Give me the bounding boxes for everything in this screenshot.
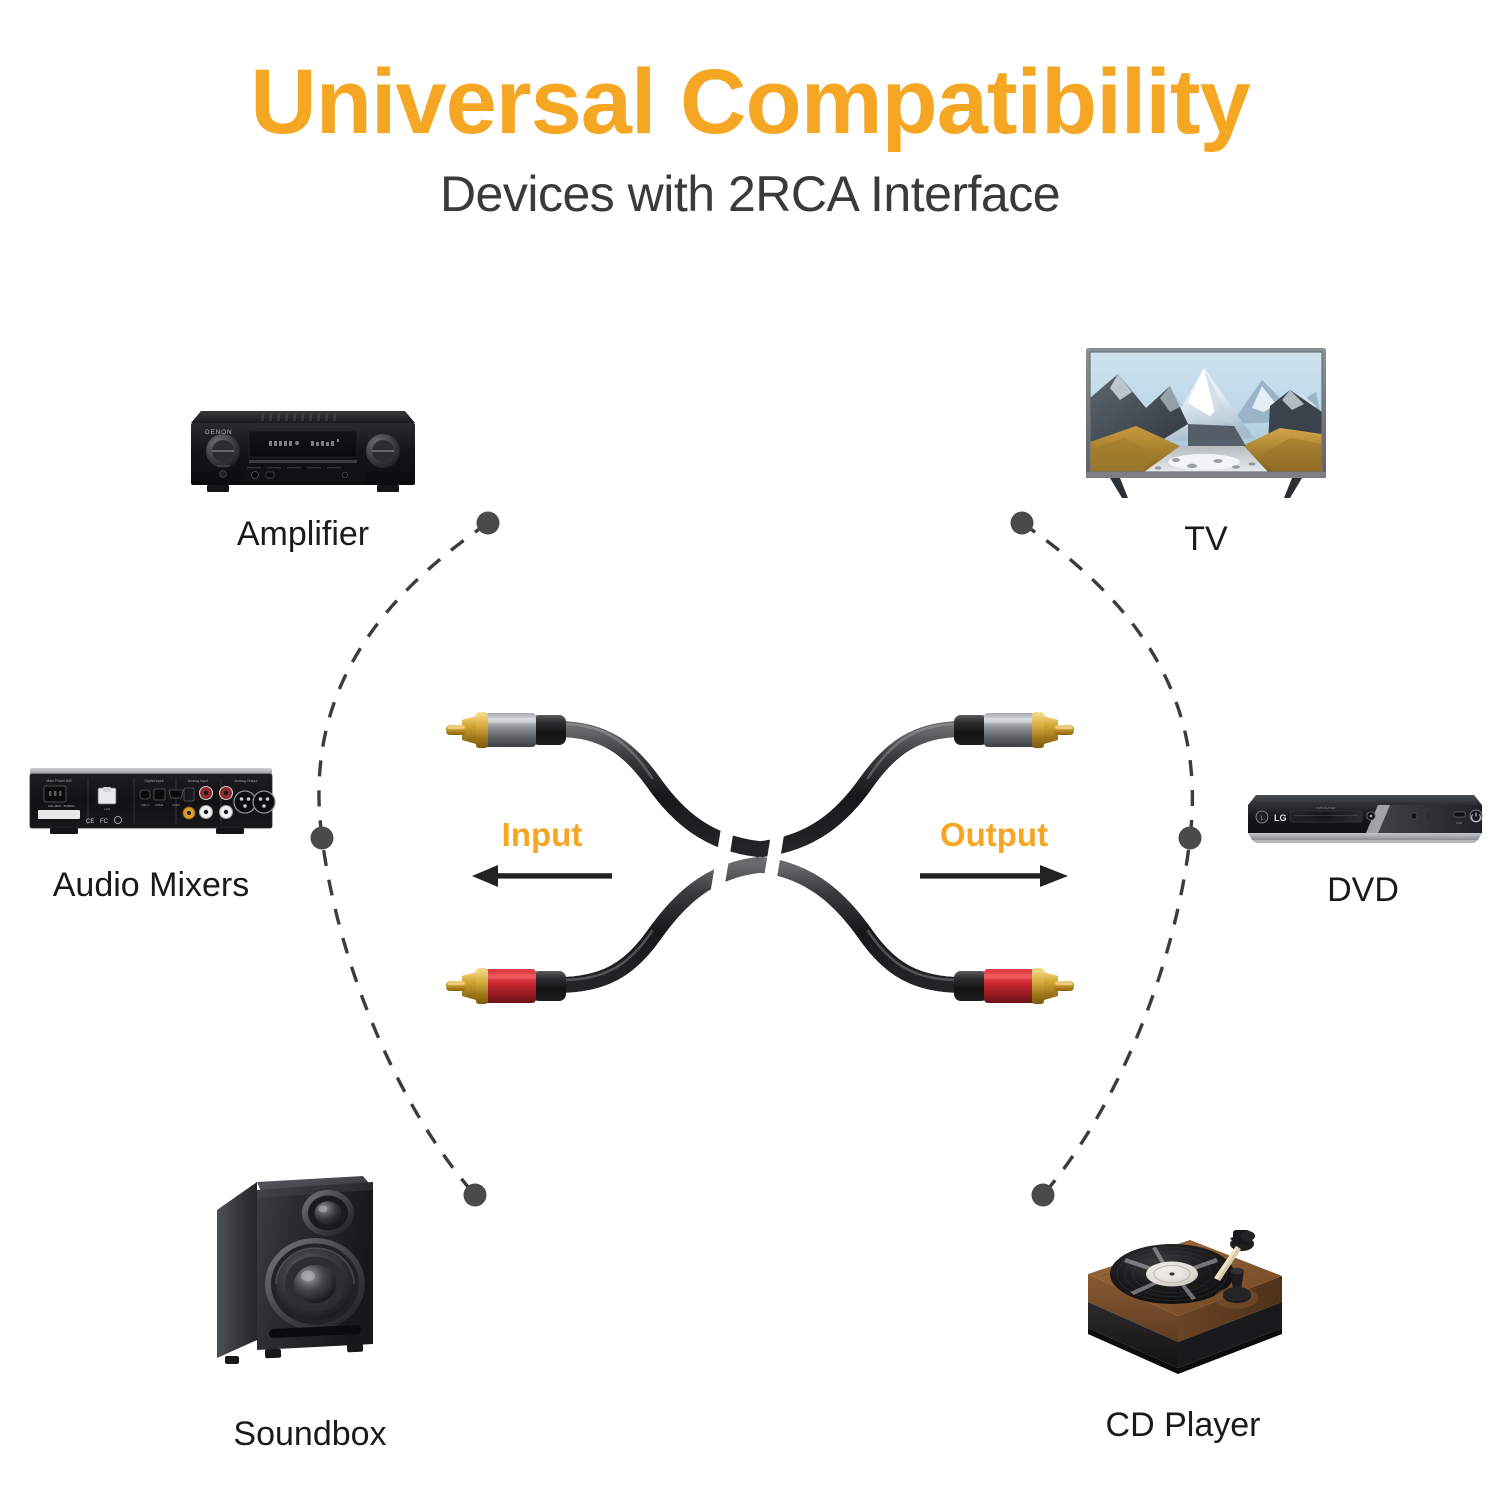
device-label-soundbox: Soundbox	[185, 1416, 435, 1453]
svg-text:DVD PLAYER: DVD PLAYER	[1317, 806, 1337, 810]
connection-dot-cd-player	[1032, 1184, 1055, 1207]
rca-connector-top-left	[446, 712, 566, 748]
device-cd-player: CD Player	[1048, 1222, 1318, 1444]
bookshelf-speaker-icon	[185, 1168, 435, 1398]
output-label-text: Output	[908, 818, 1080, 851]
connection-dot-audio-mixers	[311, 827, 334, 850]
dvd-player-icon: L LG DVD PLAYER USB	[1232, 783, 1494, 858]
rca-connector-bottom-left	[446, 968, 566, 1004]
device-label-tv: TV	[1080, 521, 1332, 558]
page-title: Universal Compatibility	[0, 54, 1500, 151]
rca-connector-top-right	[954, 712, 1074, 748]
device-audio-mixers: Main Power A/B Digital Input Analog Inpu…	[8, 760, 294, 904]
svg-text:LG: LG	[1274, 813, 1287, 823]
header: Universal Compatibility Devices with 2RC…	[0, 54, 1500, 223]
svg-text:Main Power A/B: Main Power A/B	[46, 779, 72, 783]
device-label-dvd: DVD	[1232, 872, 1494, 909]
output-direction-label: Output	[908, 818, 1080, 889]
svg-text:USB: USB	[1456, 821, 1462, 825]
svg-text:Analog Input: Analog Input	[188, 779, 208, 783]
svg-text:HDMI: HDMI	[172, 803, 179, 807]
av-receiver-icon: DENON	[150, 393, 456, 508]
svg-text:FC: FC	[100, 819, 109, 825]
svg-text:Digital Input: Digital Input	[145, 779, 164, 783]
device-label-audio-mixers: Audio Mixers	[8, 867, 294, 904]
connection-dot-amplifier	[477, 512, 500, 535]
device-label-cd-player: CD Player	[1048, 1407, 1318, 1444]
input-direction-label: Input	[462, 818, 622, 889]
connection-dot-tv	[1011, 512, 1034, 535]
rca-connector-bottom-right	[954, 968, 1074, 1004]
svg-text:USB-B: USB-B	[155, 803, 164, 807]
svg-text:Analog Output: Analog Output	[235, 779, 258, 783]
device-dvd: L LG DVD PLAYER USB	[1232, 783, 1494, 909]
connection-dot-soundbox	[464, 1184, 487, 1207]
device-amplifier: DENON	[150, 393, 456, 553]
connection-dot-dvd	[1179, 827, 1202, 850]
svg-text:100-240V~ 50/60Hz: 100-240V~ 50/60Hz	[48, 804, 75, 808]
device-soundbox: Soundbox	[185, 1168, 435, 1453]
svg-text:CE: CE	[86, 819, 94, 825]
svg-text:USB-C: USB-C	[141, 803, 150, 807]
flat-screen-tv-icon	[1080, 346, 1332, 511]
page-subtitle: Devices with 2RCA Interface	[0, 165, 1500, 223]
input-label-text: Input	[462, 818, 622, 851]
audio-mixer-rear-panel-icon: Main Power A/B Digital Input Analog Inpu…	[8, 760, 294, 855]
infographic-canvas: Universal Compatibility Devices with 2RC…	[0, 0, 1500, 1500]
svg-text:L: L	[1261, 816, 1264, 822]
svg-text:LAN: LAN	[104, 807, 110, 811]
device-tv: TV	[1080, 346, 1332, 558]
device-label-amplifier: Amplifier	[150, 516, 456, 553]
turntable-icon	[1048, 1222, 1318, 1397]
input-arrow-left-icon	[462, 863, 622, 889]
output-arrow-right-icon	[908, 863, 1080, 889]
